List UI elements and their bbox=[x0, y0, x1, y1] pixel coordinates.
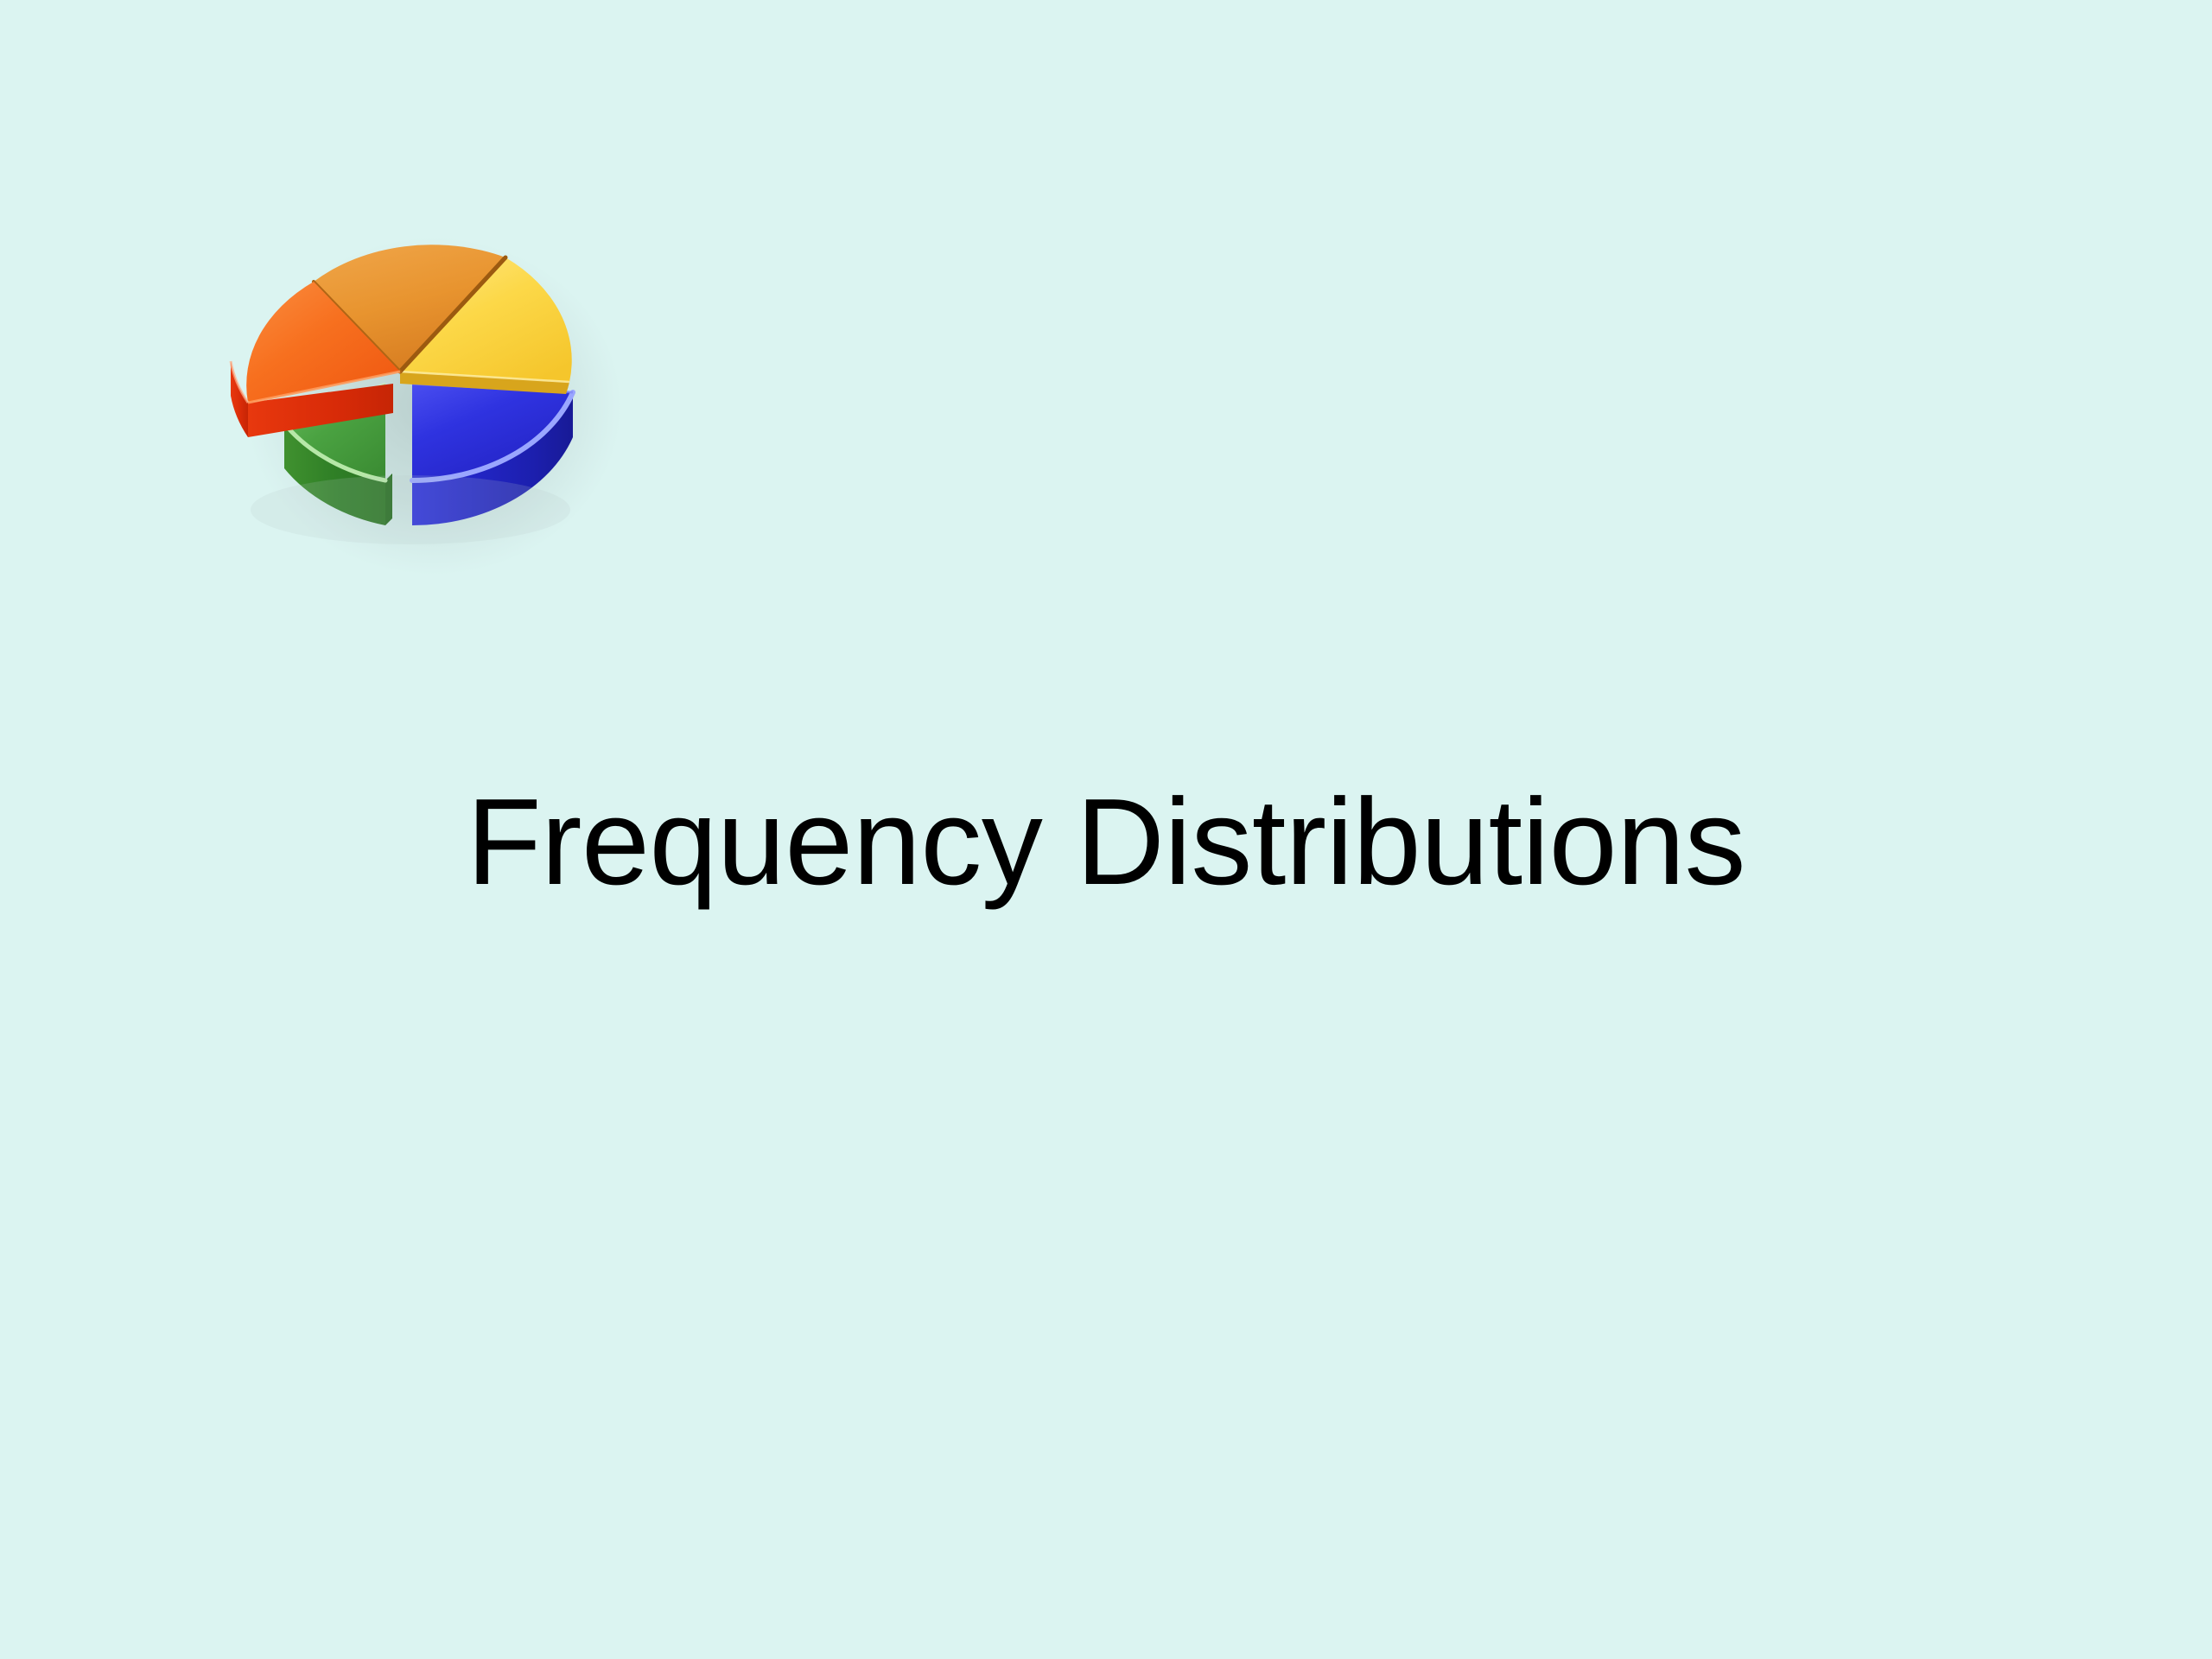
slide-canvas: Frequency Distributions bbox=[0, 0, 2212, 1659]
pie-ground-shadow bbox=[251, 475, 570, 544]
pie-chart-3d-icon bbox=[194, 164, 601, 553]
page-title: Frequency Distributions bbox=[0, 778, 2212, 906]
